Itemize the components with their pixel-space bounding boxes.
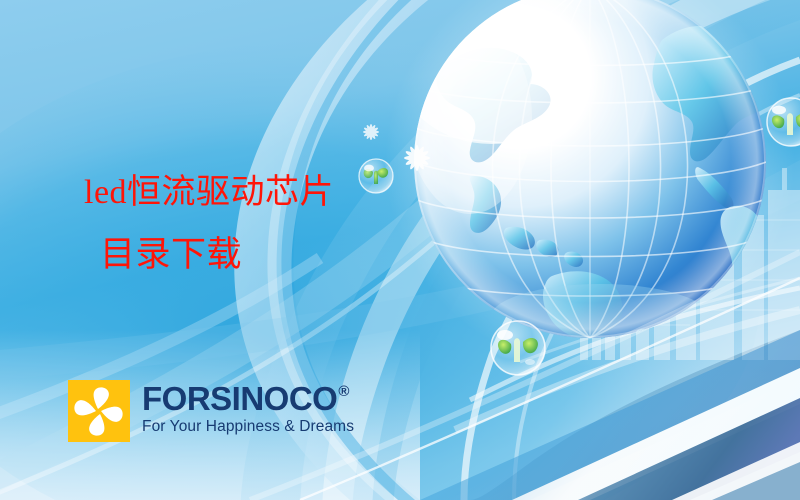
bubble-green-sprout-icon <box>491 321 545 375</box>
logo-wordmark: FORSINOCO ® <box>142 382 354 416</box>
bubble-green-sprout-icon <box>767 98 800 146</box>
banner-canvas: led恒流驱动芯片 目录下载 FORSINOCO ® <box>0 0 800 500</box>
registered-trademark-icon: ® <box>338 384 349 399</box>
brand-logo: FORSINOCO ® For Your Happiness & Dreams <box>68 380 354 442</box>
page-title: led恒流驱动芯片 目录下载 <box>84 162 414 286</box>
logo-tagline: For Your Happiness & Dreams <box>142 418 354 436</box>
sparkle-icon <box>363 124 379 140</box>
title-line-2: 目录下载 <box>84 224 414 286</box>
four-petal-pinwheel-icon <box>68 380 130 442</box>
logo-wordmark-text: FORSINOCO <box>142 382 337 416</box>
title-line-1: led恒流驱动芯片 <box>84 162 414 224</box>
